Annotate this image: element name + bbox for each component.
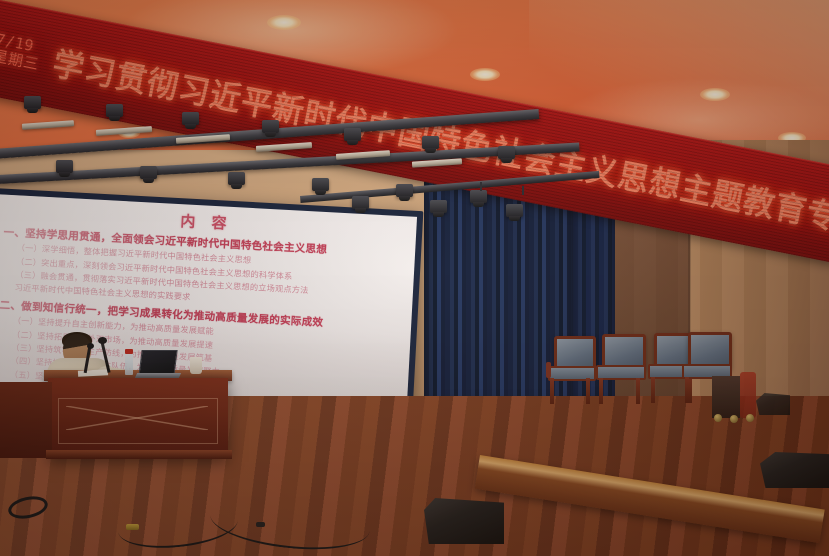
cable-connector [126, 524, 139, 530]
caster-wheel [714, 414, 722, 422]
stage-light-icon [430, 200, 447, 213]
stage-monitor-speaker [424, 498, 504, 544]
chair-leg [599, 378, 603, 404]
stage-light-icon [106, 104, 123, 117]
stage-light-icon [470, 190, 487, 203]
stage-light-icon [228, 172, 245, 185]
chair-leg [586, 378, 590, 404]
chair-leg [550, 378, 554, 404]
stage-monitor-speaker [760, 452, 829, 488]
water-bottle [125, 353, 133, 375]
bottle-cap [125, 349, 133, 354]
truss-hook [522, 186, 524, 195]
podium-base [46, 450, 232, 459]
stage-light-icon [344, 128, 361, 141]
chair-leg [651, 377, 655, 403]
stage-light-icon [140, 166, 157, 179]
stage-light-icon [56, 160, 73, 173]
stage-light-icon [312, 178, 329, 191]
chair-leg [685, 377, 689, 403]
equipment-box [712, 376, 740, 418]
stage-light-icon [422, 136, 439, 149]
downlight-icon [470, 68, 500, 81]
stage-light-icon [352, 196, 369, 209]
stage-light-icon [506, 204, 523, 217]
conference-hall-photo: 8/07/19 :53星期三 学习贯彻习近平新时代中国特色社会主义思想主题教育专… [0, 0, 829, 556]
stage-light-icon [262, 120, 279, 133]
microphone-head-icon [87, 343, 94, 349]
caster-wheel [730, 415, 738, 423]
cable-plug [256, 522, 265, 527]
chair-arm [546, 362, 551, 378]
cup [190, 357, 202, 374]
stage-light-icon [24, 96, 41, 109]
stage-light-icon [498, 146, 515, 159]
truss-hook [480, 182, 482, 191]
stage-monitor-speaker [756, 393, 790, 415]
podium-side [0, 382, 52, 458]
chair-leg [636, 378, 640, 404]
led-clock: 8/07/19 :53星期三 [0, 25, 43, 74]
stage-light-icon [396, 184, 413, 197]
podium-chevron-molding [66, 406, 208, 430]
downlight-icon [700, 88, 730, 101]
stage-light-icon [182, 112, 199, 125]
red-equipment-stand [740, 372, 756, 418]
caster-wheel [746, 414, 754, 422]
microphone-head-icon [98, 337, 107, 344]
downlight-icon [267, 15, 301, 30]
